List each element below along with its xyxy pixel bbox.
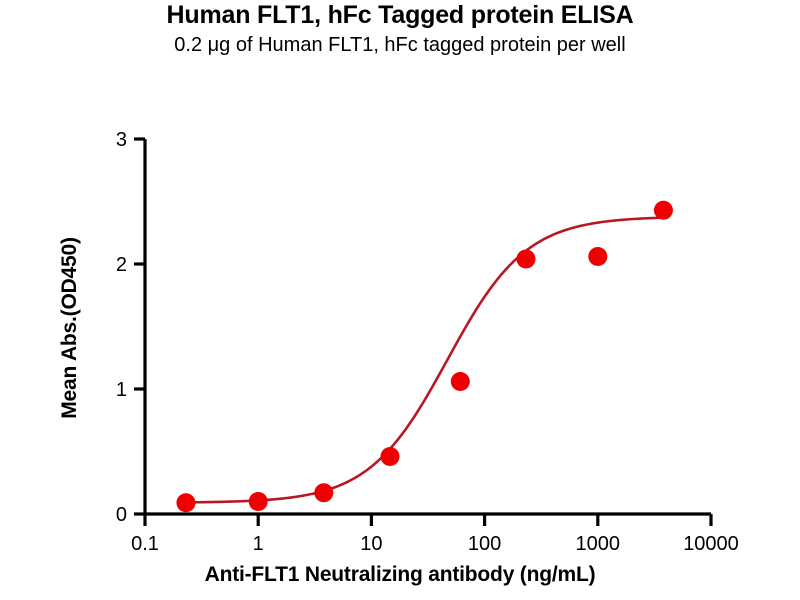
data-point-marker	[176, 493, 195, 512]
elisa-chart-figure: Human FLT1, hFc Tagged protein ELISA 0.2…	[0, 0, 800, 600]
x-axis-tick-label: 1000	[576, 533, 621, 555]
data-point-marker	[516, 250, 535, 269]
x-axis-tick-label: 10000	[683, 533, 739, 555]
data-point-marker	[249, 492, 268, 511]
x-axis-tick-label: 0.1	[131, 533, 159, 555]
y-axis-tick-label: 3	[116, 129, 127, 151]
data-point-marker	[451, 372, 470, 391]
y-axis-tick-label: 1	[116, 379, 127, 401]
x-axis-tick-label: 10	[360, 533, 382, 555]
plot-area: 01230.1110100100010000	[0, 0, 800, 600]
x-axis-tick-label: 100	[468, 533, 501, 555]
x-axis-tick-label: 1	[253, 533, 264, 555]
y-axis-tick-label: 2	[116, 254, 127, 276]
y-axis-tick-label: 0	[116, 504, 127, 526]
data-point-layer	[176, 201, 672, 513]
data-point-marker	[588, 247, 607, 266]
data-point-marker	[654, 201, 673, 220]
data-point-marker	[314, 483, 333, 502]
axis-layer: 01230.1110100100010000	[116, 129, 739, 555]
data-point-marker	[381, 447, 400, 466]
